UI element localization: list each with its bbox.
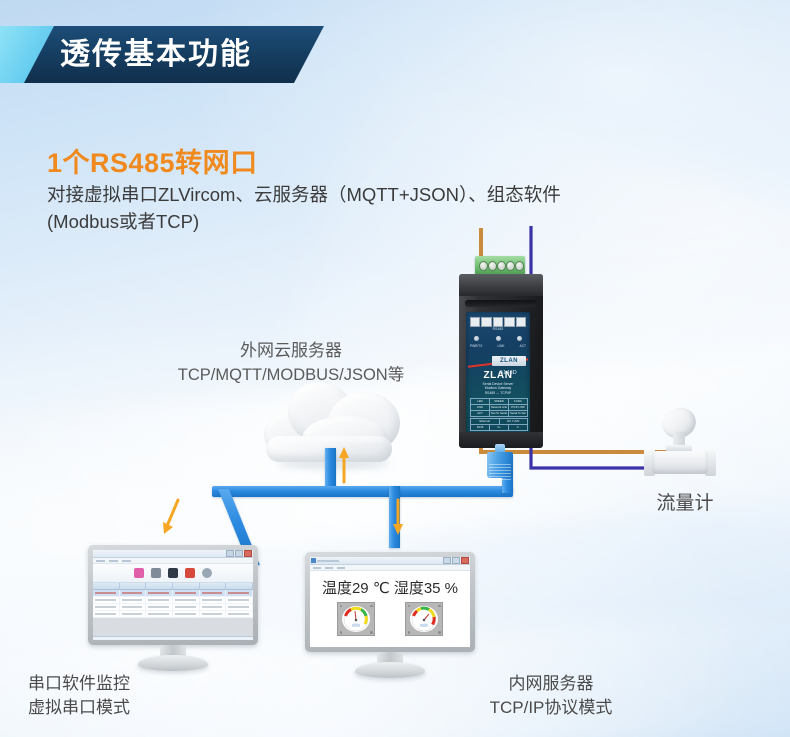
led-label-pwr: PWR/TX <box>470 344 482 348</box>
toolbar-search-icon[interactable] <box>134 568 144 578</box>
window-titlebar <box>93 550 253 558</box>
cell: Ethernet <box>471 419 500 424</box>
table-row[interactable] <box>93 604 253 611</box>
cell: LINK <box>471 405 490 410</box>
gauge-row <box>310 600 470 636</box>
rs485-pin <box>493 317 503 327</box>
terminal-pin <box>506 261 515 271</box>
device-table-body[interactable] <box>93 590 253 618</box>
right-monitor: 温度29 ℃ 湿度35 % <box>305 552 475 662</box>
section-banner: 透传基本功能 <box>0 26 330 83</box>
rj45-connector <box>487 444 513 478</box>
terminal-pin <box>515 261 524 271</box>
rs485-pin <box>470 317 480 327</box>
device-power-table: Ethernet DC 7-24V RJ45 V+ V- <box>470 418 528 431</box>
column-header <box>226 583 253 589</box>
cell: PC/P LINK <box>509 405 527 410</box>
flow-meter-label: 流量计 <box>600 488 770 515</box>
table-row: RJ45 V+ V- <box>471 425 527 430</box>
left-monitor-base <box>138 655 208 671</box>
left-caption-line-2: 虚拟串口模式 <box>28 696 130 720</box>
close-icon[interactable] <box>244 550 252 557</box>
terminal-pin <box>497 261 506 271</box>
rs485-port-label: RS485 <box>470 327 526 331</box>
page-subtitle: 对接虚拟串口ZLVircom、云服务器（MQTT+JSON）、组态软件 (Mod… <box>47 181 567 235</box>
cell: SPEED <box>490 399 509 404</box>
cell: LED <box>471 399 490 404</box>
humidity-gauge <box>405 602 443 636</box>
menu-item[interactable] <box>337 567 345 569</box>
page-canvas: 透传基本功能 1个RS485转网口 对接虚拟串口ZLVircom、云服务器（MQ… <box>0 0 790 737</box>
left-monitor <box>88 545 258 655</box>
toolbar-settings-icon[interactable] <box>151 568 161 578</box>
column-header <box>120 583 147 589</box>
minimize-icon[interactable] <box>443 557 451 564</box>
led-labels: PWR/TX LINK ACT <box>470 344 526 348</box>
gauge-dial <box>342 606 370 632</box>
column-header <box>93 583 120 589</box>
minimize-icon[interactable] <box>226 550 234 557</box>
column-header <box>200 583 227 589</box>
led-act <box>517 336 522 341</box>
right-caption-line-2: TCP/IP协议模式 <box>466 696 636 720</box>
scada-software: 温度29 ℃ 湿度35 % <box>310 557 470 647</box>
cell: V+ <box>490 425 509 430</box>
maximize-icon[interactable] <box>235 550 243 557</box>
menu-item[interactable] <box>109 560 118 562</box>
led-link <box>496 336 501 341</box>
led-label-act: ACT <box>520 344 526 348</box>
cell: RJ45 <box>471 425 490 430</box>
terminal-pin <box>488 261 497 271</box>
cell: Network Link <box>490 405 509 410</box>
cell: V- <box>509 425 527 430</box>
led-power <box>474 336 479 341</box>
gauge-dial <box>410 606 438 632</box>
cloud-label-line-1: 外网云服务器 <box>146 338 436 363</box>
rj45-body <box>487 452 513 478</box>
flow-meter-body <box>652 451 708 474</box>
serial-device-server: RS485 PWR/TX LINK ACT ZLAN ZLAN 5143D Se… <box>457 246 545 454</box>
right-caption-line-1: 内网服务器 <box>466 672 636 696</box>
window-title <box>317 560 339 562</box>
device-top-cap <box>459 274 543 296</box>
serial-monitor-software <box>93 550 253 640</box>
device-din-slot <box>465 300 537 307</box>
device-table-header <box>93 583 253 590</box>
menu-item[interactable] <box>122 560 131 562</box>
table-row[interactable] <box>93 611 253 618</box>
cell: Net To Serial <box>490 411 509 416</box>
left-monitor-bezel <box>88 545 258 645</box>
log-panel <box>93 636 253 640</box>
banner-title: 透传基本功能 <box>60 26 252 83</box>
table-row[interactable] <box>93 597 253 604</box>
column-header <box>146 583 173 589</box>
right-monitor-bezel: 温度29 ℃ 湿度35 % <box>305 552 475 652</box>
device-front-panel: RS485 PWR/TX LINK ACT ZLAN ZLAN 5143D Se… <box>466 312 530 438</box>
page-title: 1个RS485转网口 <box>47 141 258 180</box>
right-monitor-caption: 内网服务器 TCP/IP协议模式 <box>466 672 636 720</box>
temperature-gauge <box>337 602 375 636</box>
table-row: ACT Net To Serial Serial To Net <box>471 411 527 416</box>
sensor-readout: 温度29 ℃ 湿度35 % <box>310 571 470 600</box>
app-icon <box>311 558 316 563</box>
cell: DC 7-24V <box>500 419 528 424</box>
rj45-ribs <box>489 464 511 480</box>
toolbar-help-icon[interactable] <box>202 568 212 578</box>
close-icon[interactable] <box>461 557 469 564</box>
brand-chip-logo: ZLAN <box>492 356 526 366</box>
status-leds <box>474 336 522 341</box>
menu-item[interactable] <box>325 567 333 569</box>
toolbar-device-icon[interactable] <box>168 568 178 578</box>
rs485-pin <box>516 317 526 327</box>
column-header <box>173 583 200 589</box>
menu-item[interactable] <box>313 567 321 569</box>
device-description: Serial Device Server Modbus Gateway RS48… <box>470 382 526 395</box>
rs485-pin <box>504 317 514 327</box>
network-bus-horizontal <box>212 486 513 497</box>
table-row[interactable] <box>93 590 253 597</box>
flow-meter-icon <box>640 408 728 476</box>
toolbar-stop-icon[interactable] <box>185 568 195 578</box>
network-link-right-monitor <box>389 486 400 548</box>
right-monitor-base <box>355 662 425 678</box>
device-brand: ZLAN <box>470 370 526 381</box>
menu-item[interactable] <box>96 560 105 562</box>
device-model: 5143D <box>500 370 517 376</box>
empty-area <box>93 618 253 636</box>
window-toolbar[interactable] <box>93 564 253 583</box>
cell: FUNC <box>509 399 527 404</box>
green-terminal-block <box>475 256 525 275</box>
left-caption-line-1: 串口软件监控 <box>28 672 130 696</box>
left-monitor-caption: 串口软件监控 虚拟串口模式 <box>28 672 130 720</box>
led-label-link: LINK <box>497 344 504 348</box>
terminal-pin <box>479 261 488 271</box>
device-desc-line-3: RS485 ↔ TCP/IP <box>470 391 526 395</box>
maximize-icon[interactable] <box>452 557 460 564</box>
device-led-table: LED SPEED FUNC LINK Network Link PC/P LI… <box>470 398 528 417</box>
subtitle-line-1: 对接虚拟串口ZLVircom、云服务器（MQTT+JSON）、组态软件 <box>47 181 567 208</box>
window-titlebar <box>310 557 470 565</box>
rs485-pin <box>481 317 491 327</box>
rs485-port-row <box>470 317 526 326</box>
cell: ACT <box>471 411 490 416</box>
cell: Serial To Net <box>509 411 527 416</box>
arrow-down-left-monitor <box>163 522 173 534</box>
subtitle-line-2: (Modbus或者TCP) <box>47 208 567 235</box>
